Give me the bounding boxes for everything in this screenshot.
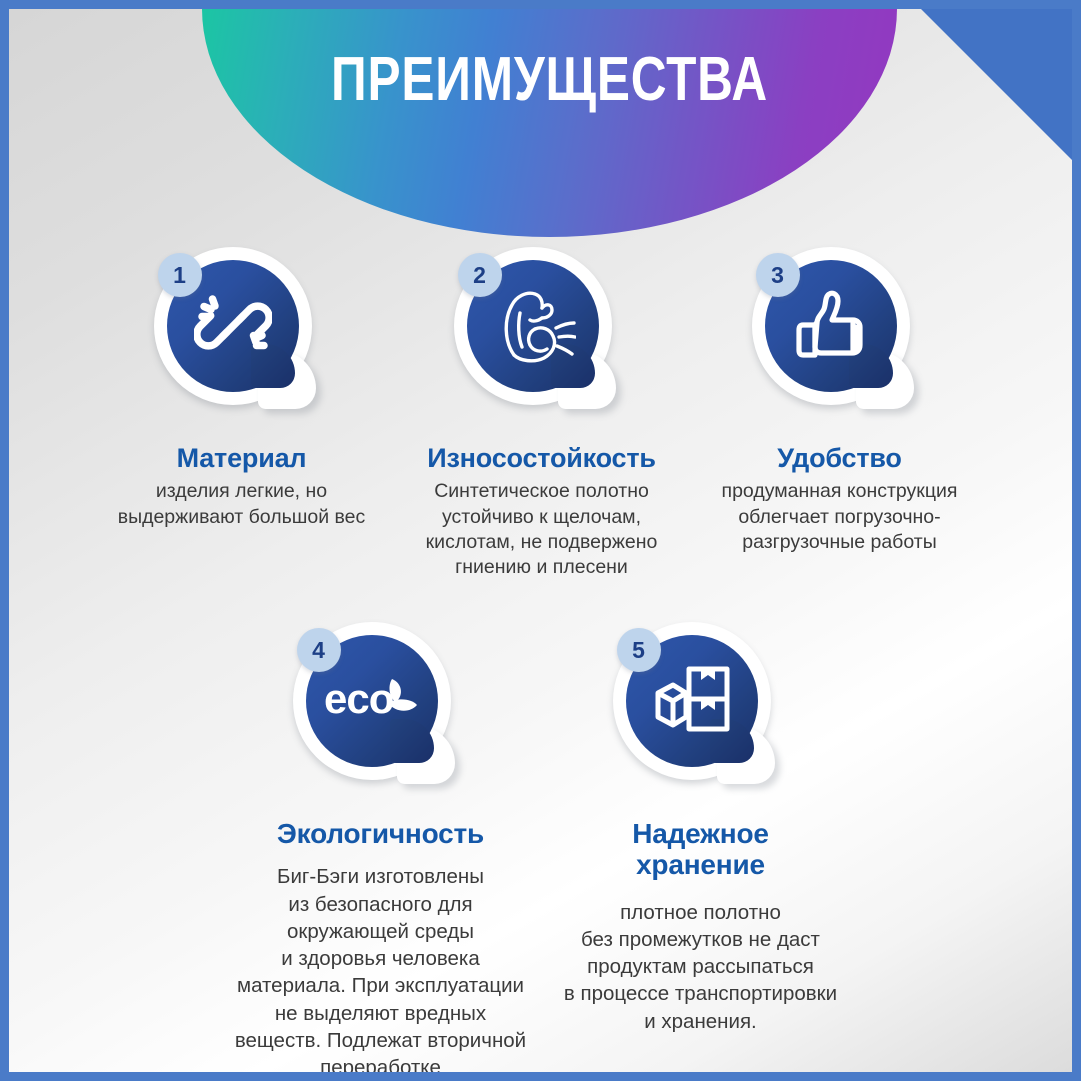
feature-number: 3	[756, 253, 800, 297]
header-gradient-arc: ПРЕИМУЩЕСТВА	[202, 9, 897, 237]
feature-badge: 2	[454, 247, 630, 427]
feature-number: 5	[617, 628, 661, 672]
feature-card-durability[interactable]: 2 Износостойкость Синтетическое полотно …	[392, 247, 692, 581]
feature-number: 4	[297, 628, 341, 672]
feature-title: Экологичность	[277, 818, 484, 849]
feature-badge: 5	[613, 622, 789, 802]
feature-description: изделия легкие, но выдерживают большой в…	[118, 479, 366, 530]
poster-frame: ПРЕИМУЩЕСТВА	[0, 0, 1081, 1081]
svg-text:eco: eco	[324, 675, 394, 722]
feature-description: Синтетическое полотно устойчиво к щелоча…	[426, 479, 658, 580]
page-title: ПРЕИМУЩЕСТВА	[272, 44, 828, 115]
feature-description: Биг-Бэги изготовлены из безопасного для …	[231, 863, 531, 1072]
feature-row-top: 1 Материал изделия легкие, но выдерживаю…	[9, 247, 1072, 581]
feature-number: 2	[458, 253, 502, 297]
poster-canvas: ПРЕИМУЩЕСТВА	[9, 9, 1072, 1072]
feature-title: Надежное хранение	[632, 818, 769, 881]
feature-title: Износостойкость	[427, 443, 656, 473]
feature-card-material[interactable]: 1 Материал изделия легкие, но выдерживаю…	[92, 247, 392, 581]
feature-card-eco[interactable]: eco 4 Экологичность Биг-Бэги изготовлены…	[226, 622, 536, 1072]
feature-description: продуманная конструкция облегчает погруз…	[722, 479, 958, 555]
feature-card-storage[interactable]: 5 Надежное хранение плотное полотно без …	[546, 622, 856, 1072]
corner-triangle-decoration	[919, 9, 1072, 162]
feature-card-convenience[interactable]: 3 Удобство продуманная конструкция облег…	[690, 247, 990, 581]
feature-description: плотное полотно без промежутков не даст …	[551, 899, 851, 1035]
feature-row-bottom: eco 4 Экологичность Биг-Бэги изготовлены…	[9, 622, 1072, 1072]
feature-number: 1	[158, 253, 202, 297]
feature-title: Материал	[177, 443, 307, 473]
feature-title: Удобство	[777, 443, 901, 473]
feature-badge: 3	[752, 247, 928, 427]
feature-badge: eco 4	[293, 622, 469, 802]
feature-badge: 1	[154, 247, 330, 427]
